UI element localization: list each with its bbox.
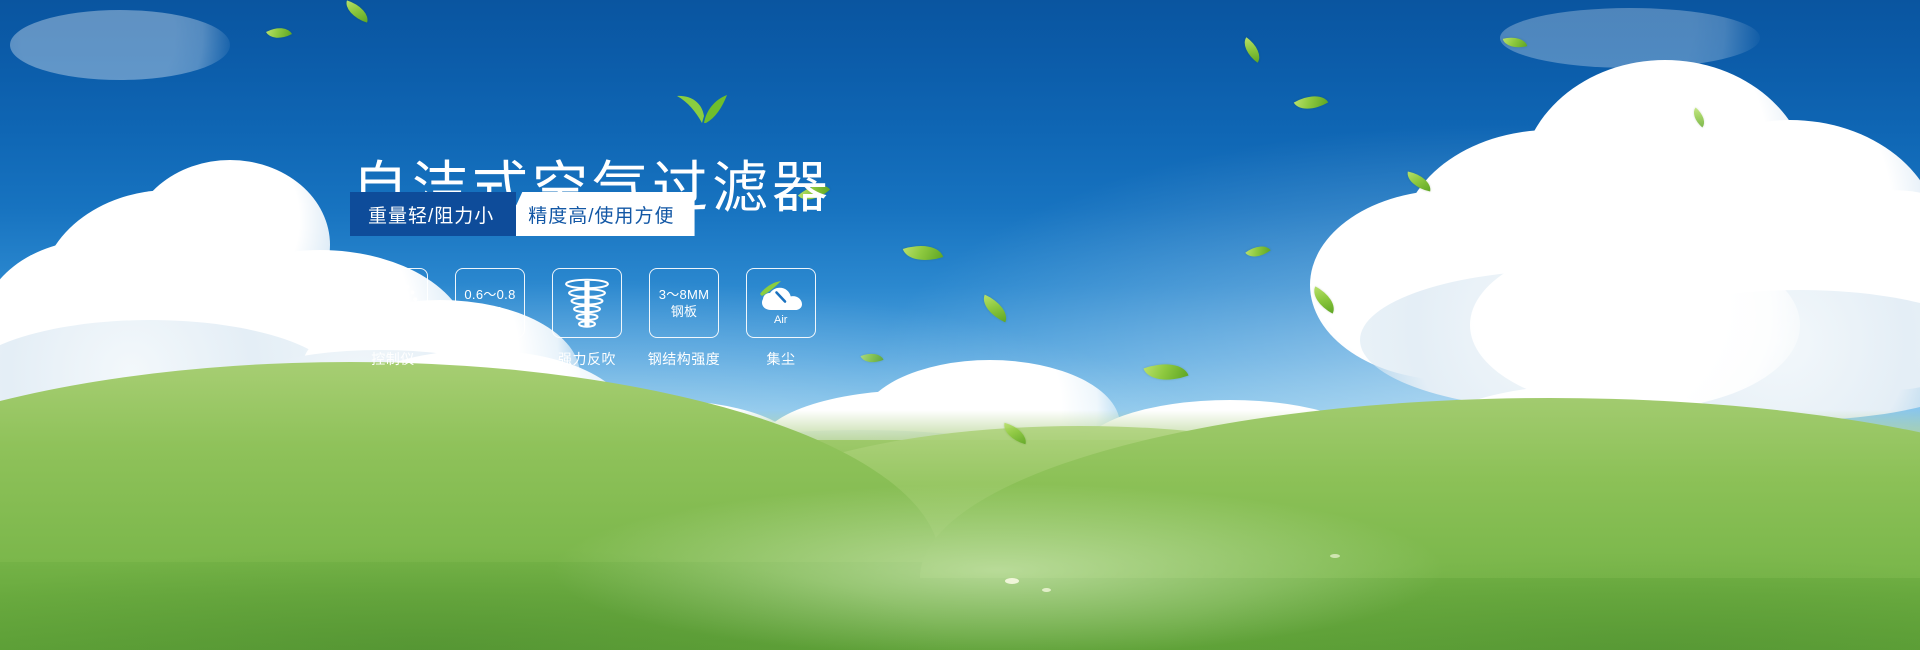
feature-label: 二级过滤	[461, 349, 519, 369]
filter-coil-icon	[563, 277, 611, 329]
feature-badge-group: 重量轻/阻力小 精度高/使用方便	[350, 192, 695, 236]
feature-icon-box: Air	[746, 268, 816, 338]
badge-primary[interactable]: 重量轻/阻力小	[350, 192, 516, 236]
pressure-text-icon: 0.6～0.8 MPA	[464, 286, 515, 320]
feature-icon-row: NO OFF 控制仪 0.6～0.8 MPA 二级过滤	[358, 268, 816, 369]
feature-icon-box: 3～8MM 钢板	[649, 268, 719, 338]
dial-gauge-icon: NO OFF	[364, 275, 422, 331]
feature-label: 钢结构强度	[648, 349, 721, 369]
dial-label-no: NO	[366, 303, 377, 310]
feature-item-control-instrument[interactable]: NO OFF 控制仪	[358, 268, 428, 369]
pressure-unit: MPA	[464, 303, 515, 320]
steel-material: 钢板	[659, 303, 710, 320]
product-hero-banner: 自洁式空气过滤器 重量轻/阻力小 精度高/使用方便	[0, 0, 1920, 650]
feature-icon-box: NO OFF	[358, 268, 428, 338]
pressure-value: 0.6～0.8	[464, 286, 515, 303]
badge-secondary[interactable]: 精度高/使用方便	[502, 192, 694, 236]
feature-label: 控制仪	[371, 349, 415, 369]
title-leaf-icon	[676, 90, 728, 124]
steel-plate-text-icon: 3～8MM 钢板	[659, 286, 710, 320]
banner-content: 自洁式空气过滤器 重量轻/阻力小 精度高/使用方便	[0, 0, 1920, 650]
feature-item-steel-strength[interactable]: 3～8MM 钢板 钢结构强度	[649, 268, 719, 369]
air-label: Air	[774, 314, 788, 326]
feature-icon-box: 0.6～0.8 MPA	[455, 268, 525, 338]
feature-label: 强力反吹	[558, 349, 616, 369]
dial-label-off: OFF	[405, 322, 419, 329]
air-cloud-icon: Air	[754, 278, 808, 328]
feature-item-strong-backblow[interactable]: 强力反吹	[552, 268, 622, 369]
feature-item-dust-collection[interactable]: Air 集尘	[746, 268, 816, 369]
feature-label: 集尘	[767, 349, 796, 369]
steel-thickness: 3～8MM	[659, 286, 710, 303]
feature-item-two-stage-filter[interactable]: 0.6～0.8 MPA 二级过滤	[455, 268, 525, 369]
feature-icon-box	[552, 268, 622, 338]
